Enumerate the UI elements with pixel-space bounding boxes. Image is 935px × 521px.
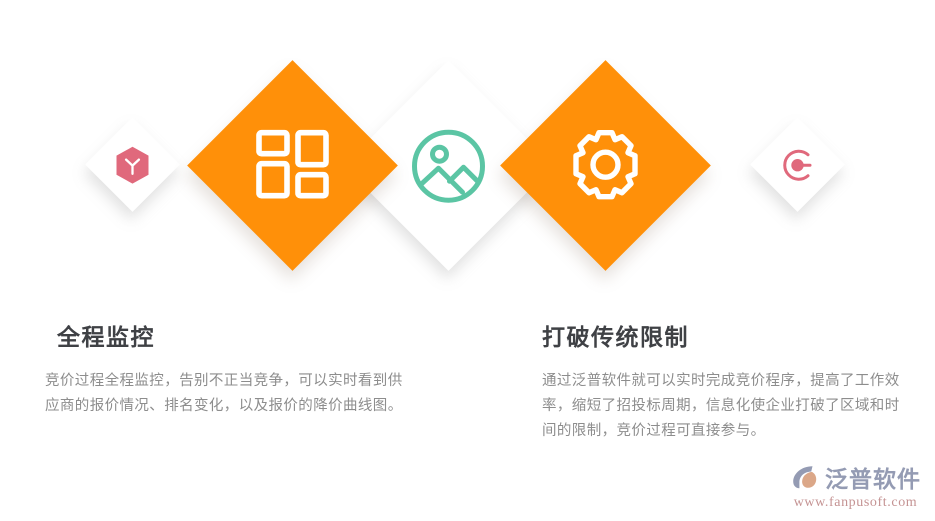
diamond-tile-1-inner — [85, 117, 180, 212]
diamond-tile-4[interactable] — [500, 60, 711, 271]
feature-left-description: 竞价过程全程监控，告别不正当竞争，可以实时看到供应商的报价情况、排名变化，以及报… — [45, 369, 405, 419]
feature-column-right: 打破传统限制 通过泛普软件就可以实时完成竞价程序，提高了工作效率，缩短了招投标周… — [542, 318, 912, 444]
feature-left-title: 全程监控 — [45, 318, 415, 352]
diamond-tile-1[interactable] — [85, 117, 180, 212]
feature-right-title: 打破传统限制 — [542, 318, 912, 352]
cube-hexagon-icon — [115, 145, 151, 185]
fanpu-swoosh-logo-icon — [790, 462, 820, 492]
image-photo-icon — [409, 126, 489, 206]
watermark-brand-name: 泛普软件 — [825, 460, 921, 494]
feature-column-left: 全程监控 竞价过程全程监控，告别不正当竞争，可以实时看到供应商的报价情况、排名变… — [45, 318, 415, 419]
dashboard-grid-icon — [256, 129, 330, 203]
diamond-tile-5-inner — [750, 117, 845, 212]
watermark: 泛普软件 www.fanpusoft.com — [790, 460, 921, 511]
diamond-tile-2[interactable] — [187, 60, 398, 271]
diamond-tile-5[interactable] — [750, 117, 845, 212]
watermark-url: www.fanpusoft.com — [794, 495, 918, 511]
diamond-tile-2-inner — [187, 60, 398, 271]
watermark-brand-row: 泛普软件 — [790, 460, 921, 494]
feature-right-description: 通过泛普软件就可以实时完成竞价程序，提高了工作效率，缩短了招投标周期，信息化使企… — [542, 369, 902, 444]
diamond-icon-band — [0, 0, 935, 300]
target-aim-icon — [777, 144, 819, 186]
gear-settings-icon — [565, 125, 647, 207]
feature-highlight-slide: { "theme": { "background": "#ffffff", "o… — [0, 0, 935, 521]
diamond-tile-4-inner — [500, 60, 711, 271]
